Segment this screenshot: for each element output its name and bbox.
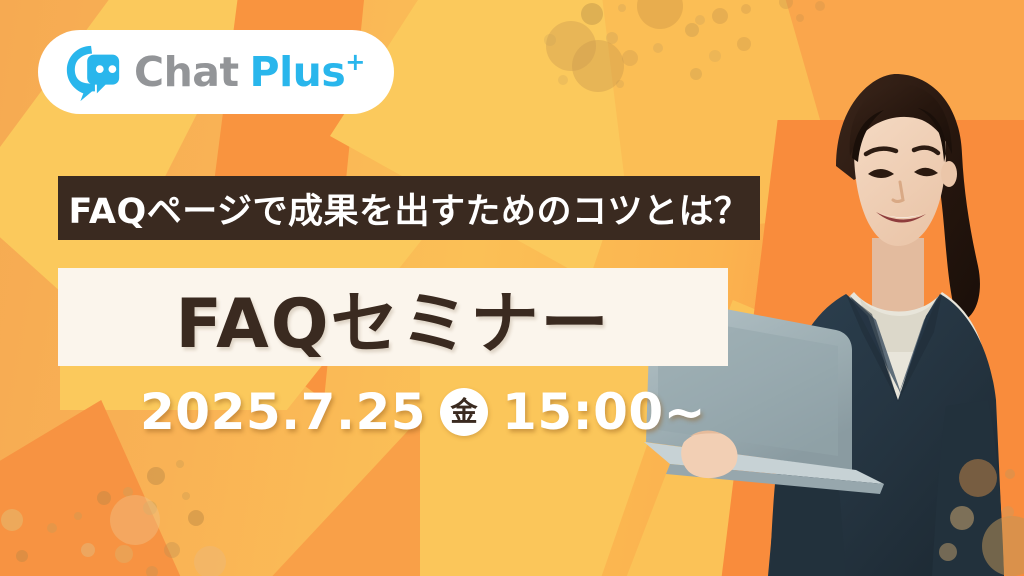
logo-text-chat: Chat [134, 52, 239, 93]
chatplus-logo-wordmark: Chat Plus + [134, 52, 365, 93]
subtitle-bar: FAQページで成果を出すためのコツとは？ [58, 176, 760, 240]
decorative-circle [950, 506, 974, 530]
page-title: FAQセミナー [175, 268, 610, 367]
logo-text-plus: Plus [250, 52, 346, 93]
title-bar: FAQセミナー [58, 268, 728, 366]
schedule-row: 2025.7.25 金 15:00~ [140, 383, 706, 441]
chatplus-logo[interactable]: Chat Plus + [38, 30, 394, 114]
decorative-circle [959, 459, 997, 497]
chatplus-chat-bubble-icon [62, 41, 124, 103]
webinar-banner: Chat Plus + FAQページで成果を出すためのコツとは？ FAQセミナー… [0, 0, 1024, 576]
decorative-circle [1005, 469, 1015, 479]
decorative-circle [939, 543, 957, 561]
day-of-week-label: 金 [451, 399, 478, 426]
day-of-week-badge: 金 [440, 388, 488, 436]
decorative-circle [982, 516, 1024, 576]
event-date: 2025.7.25 [140, 387, 426, 437]
event-time: 15:00~ [502, 387, 706, 437]
subtitle-text: FAQページで成果を出すためのコツとは？ [68, 183, 749, 234]
logo-superscript-plus: + [345, 50, 365, 74]
